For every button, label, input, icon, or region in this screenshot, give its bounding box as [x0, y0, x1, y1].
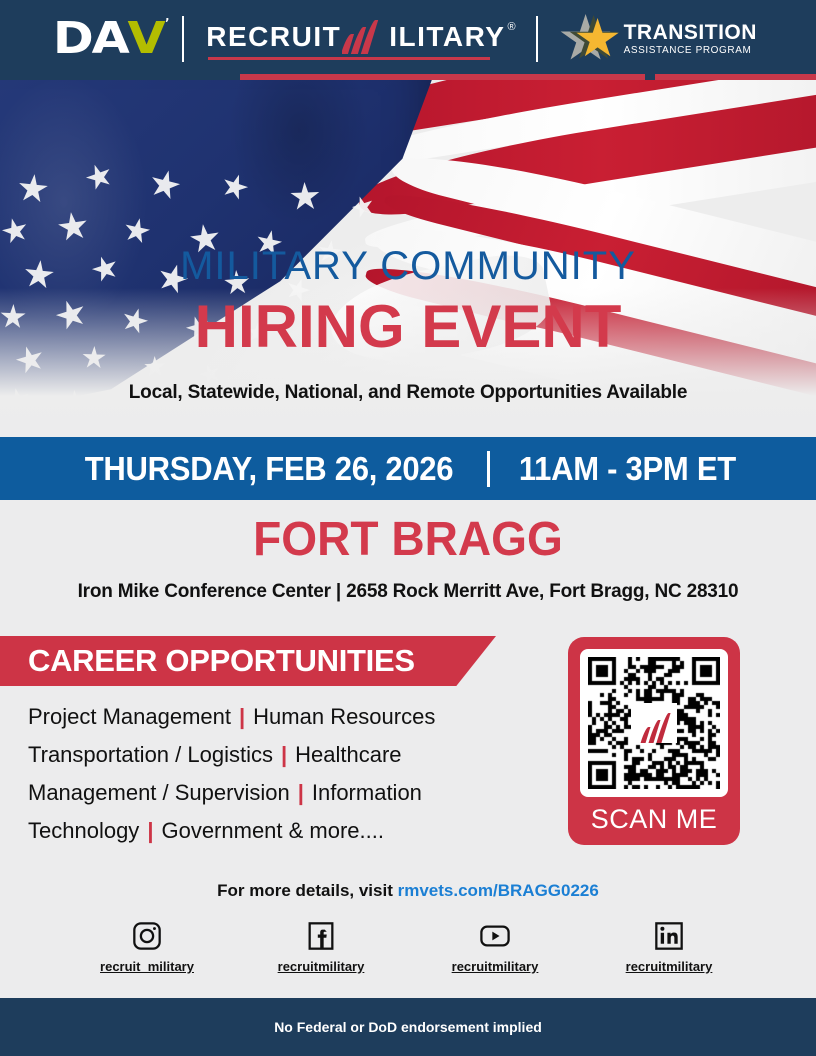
career-separator: | — [298, 780, 304, 805]
qr-code-block[interactable]: SCAN ME — [568, 637, 740, 845]
career-line: Technology|Government & more.... — [28, 812, 528, 850]
social-link-instagram[interactable]: recruit_military — [88, 920, 206, 974]
social-handle[interactable]: recruitmilitary — [626, 959, 713, 974]
linkedin-icon — [653, 920, 685, 952]
career-line: Transportation / Logistics|Healthcare — [28, 736, 528, 774]
career-category: Technology — [28, 818, 139, 843]
recruitmilitary-logo-part2: ILITARY — [389, 21, 505, 53]
dav-logo-mark: ’ — [165, 17, 167, 29]
event-time: 11AM - 3PM ET — [519, 450, 736, 488]
career-opportunities-label: CAREER OPPORTUNITIES — [28, 643, 415, 679]
dav-logo: DAV’ — [53, 17, 166, 61]
instagram-icon — [131, 920, 163, 952]
career-category: Healthcare — [295, 742, 401, 767]
location-name: FORT BRAGG — [16, 512, 799, 567]
page-title-top: MILITARY COMMUNITY — [0, 244, 816, 288]
tap-logo-text: TRANSITION ASSISTANCE PROGRAM — [624, 22, 757, 56]
career-category: Management / Supervision — [28, 780, 290, 805]
registered-trademark-icon: ® — [507, 21, 515, 33]
career-category: Project Management — [28, 704, 231, 729]
career-line: Management / Supervision|Information — [28, 774, 528, 812]
facebook-icon — [305, 920, 337, 952]
career-opportunities-list: Project Management|Human Resources Trans… — [28, 698, 528, 850]
career-line: Project Management|Human Resources — [28, 698, 528, 736]
social-links: recruit_military recruitmilitary recruit… — [0, 920, 816, 974]
logo-group: DAV’ RECRUIT ILITARY ® TRANSITION — [59, 9, 757, 69]
youtube-icon — [479, 920, 511, 952]
career-category: Human Resources — [253, 704, 435, 729]
footer-bar: No Federal or DoD endorsement implied — [0, 998, 816, 1056]
social-link-linkedin[interactable]: recruitmilitary — [610, 920, 728, 974]
recruitmilitary-m-swoosh-icon — [342, 20, 388, 54]
hero-titles: MILITARY COMMUNITY HIRING EVENT Local, S… — [0, 244, 816, 404]
dav-logo-v-text: V — [128, 17, 164, 61]
recruitmilitary-logo-underline — [208, 57, 490, 60]
social-handle[interactable]: recruitmilitary — [278, 959, 365, 974]
header-logo-bar: DAV’ RECRUIT ILITARY ® TRANSITION — [0, 0, 816, 78]
header-accent-stripe — [0, 74, 816, 80]
career-separator: | — [147, 818, 153, 843]
dav-logo-da-text: DA — [53, 17, 128, 61]
event-date: THURSDAY, FEB 26, 2026 — [85, 450, 453, 488]
tap-logo-subtitle: ASSISTANCE PROGRAM — [624, 46, 757, 56]
flyer-page: DAV’ RECRUIT ILITARY ® TRANSITION — [0, 0, 816, 1056]
social-handle[interactable]: recruitmilitary — [452, 959, 539, 974]
footer-disclaimer: No Federal or DoD endorsement implied — [274, 1019, 542, 1035]
event-url-link[interactable]: rmvets.com/BRAGG0226 — [398, 881, 599, 900]
recruitmilitary-logo-part1: RECRUIT — [206, 21, 341, 53]
qr-code-image[interactable] — [580, 649, 728, 797]
social-link-facebook[interactable]: recruitmilitary — [262, 920, 380, 974]
hero-tagline: Local, Statewide, National, and Remote O… — [0, 382, 816, 404]
tap-logo-title: TRANSITION — [624, 22, 757, 43]
more-details-line: For more details, visit rmvets.com/BRAGG… — [0, 881, 816, 901]
career-category: Information — [312, 780, 422, 805]
more-details-prefix: For more details, visit — [217, 881, 397, 900]
qr-scan-label: SCAN ME — [591, 804, 718, 835]
career-separator: | — [239, 704, 245, 729]
recruitmilitary-logo: RECRUIT ILITARY ® — [206, 20, 513, 58]
social-link-youtube[interactable]: recruitmilitary — [436, 920, 554, 974]
career-opportunities-banner: CAREER OPPORTUNITIES — [0, 636, 496, 686]
qr-center-logo-icon — [631, 703, 677, 743]
transition-assistance-program-logo: TRANSITION ASSISTANCE PROGRAM — [560, 10, 757, 68]
career-separator: | — [281, 742, 287, 767]
logo-divider-2 — [536, 16, 538, 62]
datetime-divider — [487, 451, 490, 487]
page-title-main: HIRING EVENT — [0, 294, 816, 360]
social-handle[interactable]: recruit_military — [100, 959, 194, 974]
tap-star-icon — [560, 10, 622, 68]
location-address: Iron Mike Conference Center | 2658 Rock … — [0, 581, 816, 603]
career-category: Government & more.... — [161, 818, 384, 843]
career-category: Transportation / Logistics — [28, 742, 273, 767]
event-datetime-bar: THURSDAY, FEB 26, 2026 11AM - 3PM ET — [0, 437, 816, 500]
event-location: FORT BRAGG Iron Mike Conference Center |… — [0, 512, 816, 603]
logo-divider-1 — [182, 16, 184, 62]
